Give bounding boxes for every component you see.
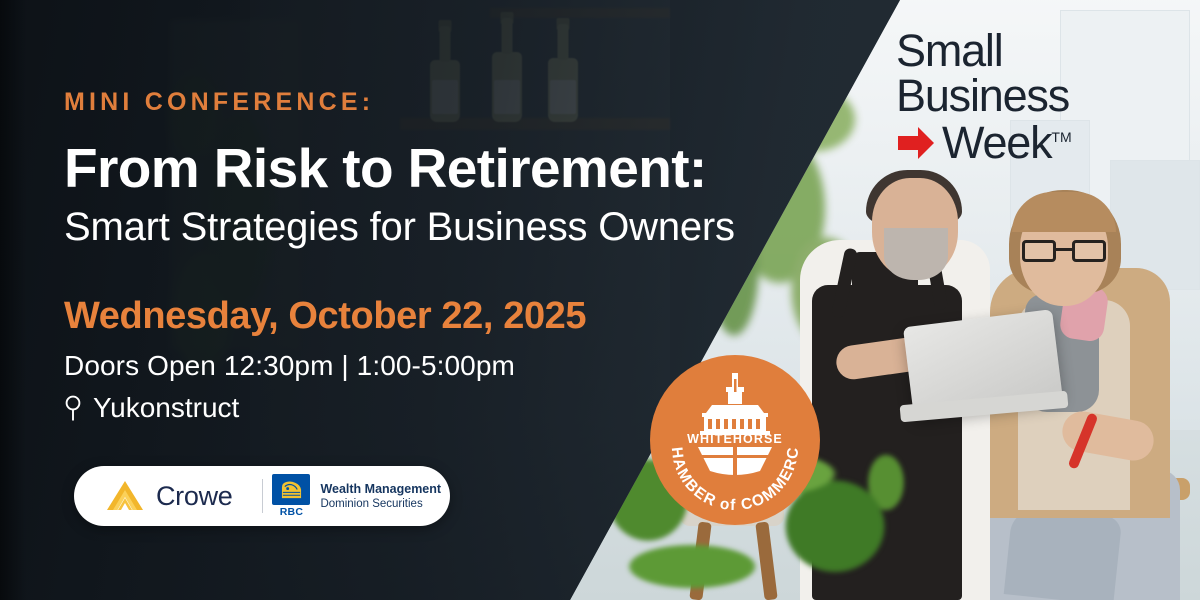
page-subtitle: Smart Strategies for Business Owners [64,203,744,251]
badge-city-name: WHITEHORSE [687,432,783,446]
crowe-wordmark: Crowe [156,481,233,512]
rbc-blue-square [272,474,310,505]
rbc-lion-shield-icon [279,479,304,501]
rbc-wordmark: Wealth Management Dominion Securities [320,481,441,512]
sbw-week-text: Week [942,117,1051,168]
sbw-line1: Small Business [896,28,1186,118]
trademark-symbol: TM [1051,129,1071,145]
crowe-logo: Crowe [74,479,262,513]
rbc-line2: Dominion Securities [320,497,441,512]
rbc-line1: Wealth Management [320,481,441,497]
rbc-logo: RBC Wealth Management Dominion Securitie… [263,474,451,518]
rbc-abbrev: RBC [271,506,311,518]
red-arrow-right-icon [896,124,936,162]
left-edge-shadow [0,0,26,600]
sbw-week-word: WeekTM [942,120,1072,165]
page-title: From Risk to Retirement: [64,139,744,197]
rbc-mark: RBC [271,474,311,518]
event-venue: Yukonstruct [64,392,744,424]
woman-leg [1004,506,1123,600]
man-beard [884,228,948,280]
chamber-badge-art: WHITEHORSE CHAMBER of COMMERCE [650,355,820,525]
event-text-content: MINI CONFERENCE: From Risk to Retirement… [64,88,744,424]
crowe-chevron-icon [103,479,147,513]
kicker-label: MINI CONFERENCE: [64,88,744,117]
event-time: Doors Open 12:30pm | 1:00-5:00pm [64,350,744,382]
sponsor-logo-pill: Crowe RBC Wealth Management Domin [74,466,450,526]
sbw-line2-row: WeekTM [896,120,1186,165]
paddlewheel-steamboat-icon [698,373,772,475]
woman-glasses-icon [1022,240,1106,262]
event-date: Wednesday, October 22, 2025 [64,295,744,338]
venue-name: Yukonstruct [93,392,239,424]
map-pin-icon [64,395,82,422]
small-business-week-logo: Small Business WeekTM [896,28,1186,165]
whitehorse-chamber-badge: WHITEHORSE CHAMBER of COMMERCE [650,355,820,525]
event-banner: MINI CONFERENCE: From Risk to Retirement… [0,0,1200,600]
